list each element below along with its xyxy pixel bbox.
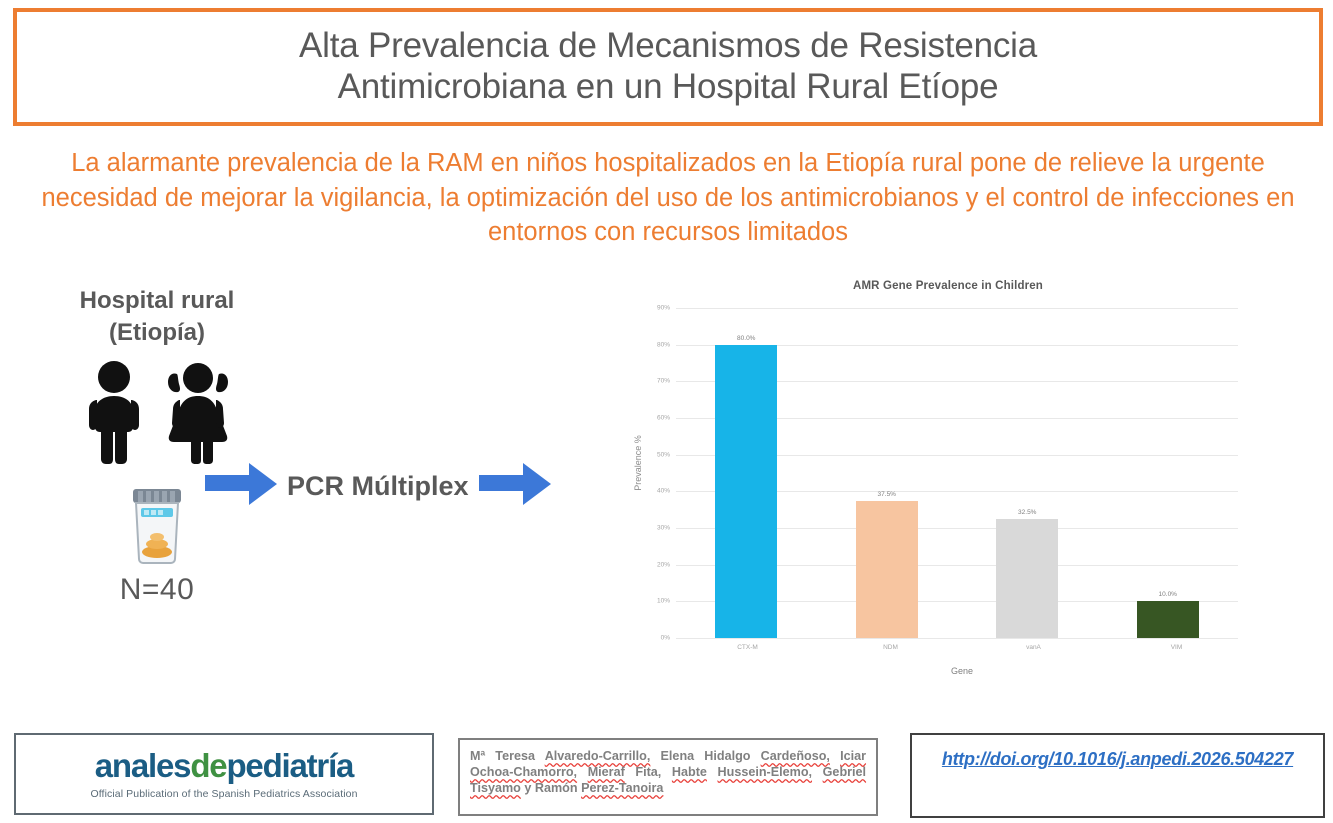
chart-y-tick: 0%: [640, 635, 670, 642]
chart-x-tick: CTX-M: [676, 644, 819, 651]
chart-y-tick: 90%: [640, 305, 670, 312]
chart-y-tick: 50%: [640, 451, 670, 458]
chart-plot-area: Prevalence % 90%80%70%60%50%40%30%20%10%…: [640, 308, 1238, 638]
chart-y-tick: 20%: [640, 561, 670, 568]
chart-bar[interactable]: [856, 501, 918, 639]
method-label: PCR Múltiplex: [287, 471, 469, 502]
arrow-right-icon: [479, 461, 551, 512]
amr-gene-prevalence-chart: AMR Gene Prevalence in Children Prevalen…: [588, 280, 1248, 688]
authors-text: Mª Teresa Alvaredo-Carrillo, Elena Hidal…: [470, 749, 866, 795]
key-message-subtitle: La alarmante prevalencia de la RAM en ni…: [12, 146, 1324, 250]
authors-list: Mª Teresa Alvaredo-Carrillo, Elena Hidal…: [470, 748, 866, 796]
chart-bar[interactable]: [1137, 601, 1199, 638]
doi-link[interactable]: http://doi.org/10.1016/j.anpedi.2026.504…: [912, 749, 1323, 770]
chart-gridline: [676, 638, 1238, 639]
title-line-1: Alta Prevalencia de Mecanismos de Resist…: [299, 26, 1037, 67]
chart-bar[interactable]: [715, 345, 777, 638]
chart-y-tick: 30%: [640, 525, 670, 532]
title-box: Alta Prevalencia de Mecanismos de Resist…: [13, 8, 1323, 126]
chart-bar-value-label: 10.0%: [1159, 591, 1177, 598]
doi-box: http://doi.org/10.1016/j.anpedi.2026.504…: [910, 733, 1325, 818]
title-line-2: Antimicrobiana en un Hospital Rural Etío…: [299, 67, 1037, 108]
journal-logo-box: analesdepediatría Official Publication o…: [14, 733, 434, 815]
chart-bar[interactable]: [996, 519, 1058, 638]
page-title: Alta Prevalencia de Mecanismos de Resist…: [299, 26, 1037, 107]
chart-bar-value-label: 32.5%: [1018, 509, 1036, 516]
chart-y-tick: 40%: [640, 488, 670, 495]
logo-part-de: de: [190, 747, 226, 784]
chart-x-tick: NDM: [819, 644, 962, 651]
arrow-right-icon: [205, 461, 277, 512]
chart-bar-column: 37.5%: [817, 308, 958, 638]
chart-y-tick: 60%: [640, 415, 670, 422]
chart-x-tick: VIM: [1105, 644, 1248, 651]
stool-sample-container-icon: [124, 486, 190, 569]
chart-bar-column: 32.5%: [957, 308, 1098, 638]
setting-line-2: (Etiopía): [57, 317, 257, 349]
chart-y-tick: 80%: [640, 341, 670, 348]
girl-figure-icon: [157, 360, 239, 470]
setting-label: Hospital rural (Etiopía): [57, 285, 257, 348]
journal-logo-tagline: Official Publication of the Spanish Pedi…: [90, 788, 357, 800]
chart-y-tick: 70%: [640, 378, 670, 385]
chart-bar-column: 10.0%: [1098, 308, 1239, 638]
chart-x-tick-labels: CTX-MNDMvanAVIM: [676, 644, 1248, 651]
study-setting-panel: Hospital rural (Etiopía): [22, 285, 292, 607]
sample-size-label: N=40: [22, 573, 292, 607]
boy-figure-icon: [75, 360, 153, 470]
setting-line-1: Hospital rural: [57, 285, 257, 317]
workflow-row: PCR Múltiplex: [205, 455, 600, 517]
logo-part-anales: anales: [95, 747, 191, 784]
authors-box: Mª Teresa Alvaredo-Carrillo, Elena Hidal…: [458, 738, 878, 816]
chart-x-tick: vanA: [962, 644, 1105, 651]
chart-bar-column: 80.0%: [676, 308, 817, 638]
children-figures-group: [22, 360, 292, 470]
chart-bar-value-label: 37.5%: [878, 491, 896, 498]
chart-x-axis-label: Gene: [676, 666, 1248, 676]
chart-bars: 80.0%37.5%32.5%10.0%: [676, 308, 1238, 638]
chart-bar-value-label: 80.0%: [737, 335, 755, 342]
logo-part-pediatria: pediatría: [226, 747, 353, 784]
journal-logo-wordmark: analesdepediatría: [95, 749, 353, 782]
chart-y-tick: 10%: [640, 598, 670, 605]
chart-title: AMR Gene Prevalence in Children: [588, 280, 1248, 292]
